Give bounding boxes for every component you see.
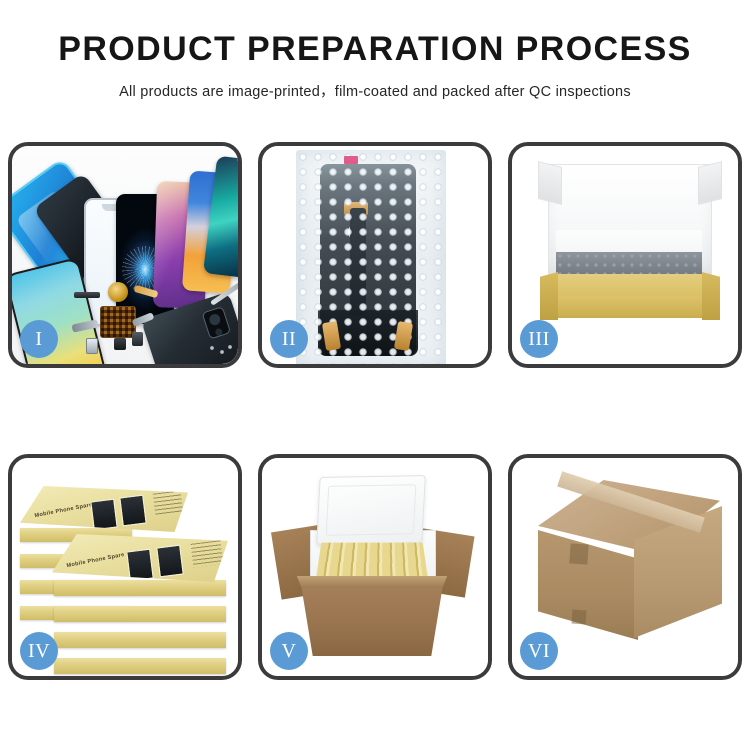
retail-box-right-4 (54, 658, 226, 674)
screw-tray-grid (100, 306, 136, 338)
box-lid-flap-right (698, 161, 722, 205)
kraft-tray-lip-left (540, 272, 558, 320)
page-subtitle: All products are image-printed，film-coat… (0, 80, 750, 101)
retail-box-thumb-2a (126, 549, 153, 582)
process-step-grid: I II (8, 142, 742, 680)
page-title: PRODUCT PREPARATION PROCESS (0, 32, 750, 68)
small-component-1 (86, 338, 98, 354)
retail-box-spec-lines-1 (153, 490, 184, 516)
retail-box-right-3 (54, 632, 226, 648)
carton-seam-lower (572, 610, 587, 625)
step-badge-5: V (270, 632, 308, 670)
kraft-tray-front (546, 296, 714, 318)
foam-box-lid (316, 475, 426, 545)
page-header: PRODUCT PREPARATION PROCESS All products… (0, 0, 750, 101)
bubble-texture (296, 150, 446, 364)
process-step-panel-4[interactable]: Mobile Phone Spare Parts Mobile Phone Sp… (8, 454, 242, 680)
retail-box-thumb-2b (156, 545, 183, 578)
process-step-panel-5[interactable]: V (258, 454, 492, 680)
carton-top-rim (292, 576, 452, 588)
retail-box-thumb-1a (90, 499, 117, 531)
retail-box-printed-2: Mobile Phone Spare Parts (52, 534, 228, 582)
retail-box-right-1 (54, 580, 226, 596)
process-step-panel-1[interactable]: I (8, 142, 242, 368)
earpiece-mesh-part (74, 292, 100, 298)
step-badge-2: II (270, 320, 308, 358)
retail-box-thumb-1b (119, 495, 146, 527)
carton-body (294, 580, 450, 656)
kraft-tray-lip-right (702, 272, 720, 320)
step-badge-1: I (20, 320, 58, 358)
step-badge-6: VI (520, 632, 558, 670)
copper-coil-part (108, 282, 128, 302)
process-step-panel-6[interactable]: VI (508, 454, 742, 680)
bubble-wrap-bag (296, 150, 446, 364)
retail-box-spec-lines-2 (191, 540, 224, 567)
small-component-2 (114, 338, 126, 350)
carton-seam-upper (569, 543, 588, 564)
process-step-panel-2[interactable]: II (258, 142, 492, 368)
pink-qc-sticker (344, 156, 358, 164)
step-badge-4: IV (20, 632, 58, 670)
process-step-panel-3[interactable]: III (508, 142, 742, 368)
loose-screws (208, 344, 234, 356)
small-component-3 (132, 332, 143, 346)
retail-box-right-2 (54, 606, 226, 622)
step-badge-3: III (520, 320, 558, 358)
box-lid-flap-left (538, 161, 562, 205)
camera-module-icon (202, 306, 232, 339)
retail-box-printed-1: Mobile Phone Spare Parts (20, 486, 188, 532)
